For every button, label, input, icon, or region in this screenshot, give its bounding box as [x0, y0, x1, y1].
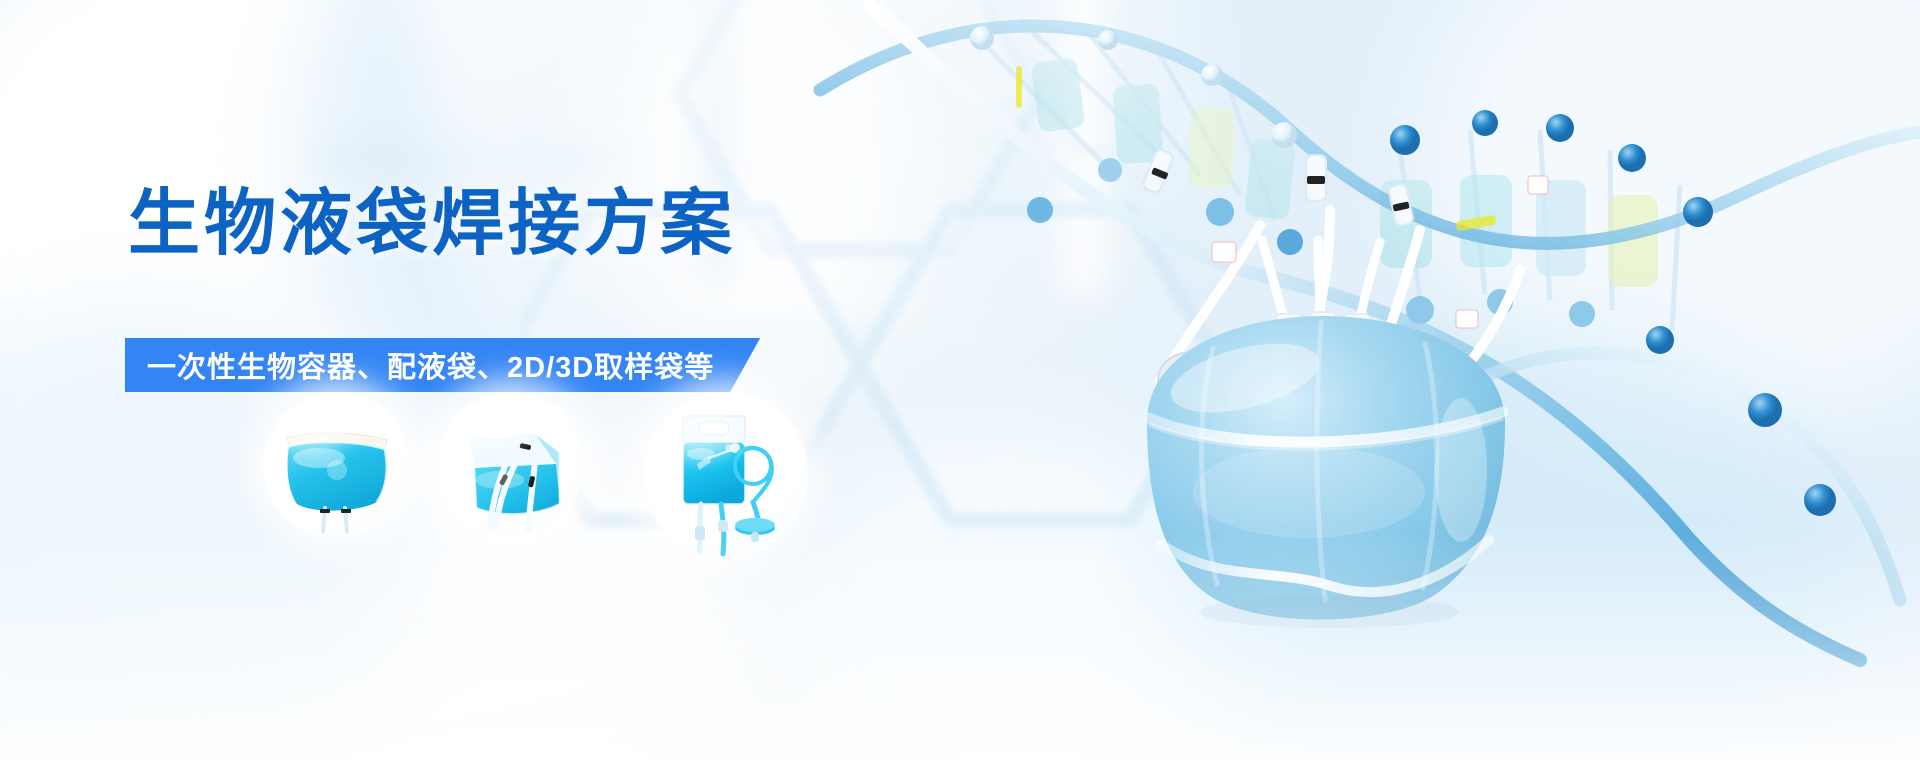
circle-gloss: [275, 401, 351, 451]
subtitle-ribbon: 一次性生物容器、配液袋、2D/3D取样袋等: [125, 338, 760, 392]
hero-banner: 生物液袋焊接方案 一次性生物容器、配液袋、2D/3D取样袋等: [0, 0, 1920, 760]
product-thumb-3d-bag: [438, 392, 584, 538]
product-thumb-2d-bag: [263, 392, 409, 538]
page-title: 生物液袋焊接方案: [128, 188, 736, 260]
background-floor-fade: [0, 530, 1920, 760]
subtitle-text: 一次性生物容器、配液袋、2D/3D取样袋等: [147, 344, 714, 386]
circle-gloss: [656, 402, 742, 458]
circle-gloss: [450, 401, 526, 451]
